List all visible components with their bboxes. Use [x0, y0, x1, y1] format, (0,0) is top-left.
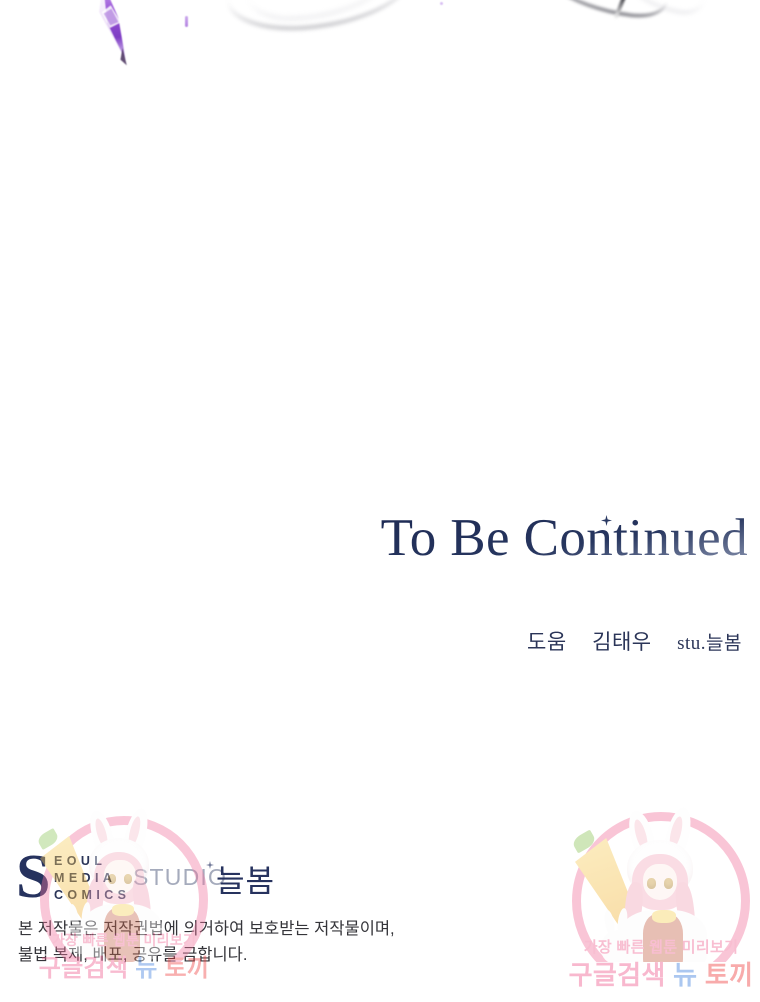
logo-studio-name: 늘봄	[216, 856, 275, 901]
watermark-brand-mid: 뉴	[135, 955, 157, 982]
character-eye-left	[108, 874, 116, 884]
watermark-brand-suffix: 토끼	[705, 960, 753, 990]
watermark-brand-mid: 뉴	[673, 960, 697, 990]
watermark-right: 가장 빠른 웹툰 미리보기 구글검색 뉴 토끼	[563, 812, 759, 990]
character-eye-right	[124, 874, 132, 884]
watermark-brand-prefix: 구글검색	[569, 960, 666, 990]
watermark-left: 가장 빠른 웹툰 미리보기 구글검색 뉴 토끼	[34, 812, 214, 990]
watermark-tagline: 가장 빠른 웹툰 미리보기	[563, 936, 759, 957]
tiny-purple-dot	[440, 2, 443, 5]
watermark-tagline: 가장 빠른 웹툰 미리보기	[34, 930, 214, 950]
credit-name: 김태우	[592, 630, 651, 654]
credits-line: 도움 김태우 stu.늘봄	[0, 626, 742, 656]
watermark-brand: 구글검색 뉴 토끼	[563, 955, 759, 992]
purple-spark-mark	[185, 16, 188, 27]
watermark-brand-suffix: 토끼	[165, 955, 210, 982]
character-eye-left	[647, 878, 656, 889]
character-bow	[112, 904, 134, 916]
credit-studio: stu.늘봄	[677, 633, 742, 654]
watermark-brand-prefix: 구글검색	[39, 955, 129, 982]
character-bow	[652, 910, 676, 923]
credit-role: 도움	[527, 630, 567, 654]
purple-crystal-shard-icon	[67, 0, 160, 67]
watermark-brand: 구글검색 뉴 토끼	[34, 948, 214, 983]
top-decorative-art	[0, 0, 760, 70]
to-be-continued-title: To Be Continued	[0, 508, 748, 568]
character-eye-right	[664, 878, 673, 889]
